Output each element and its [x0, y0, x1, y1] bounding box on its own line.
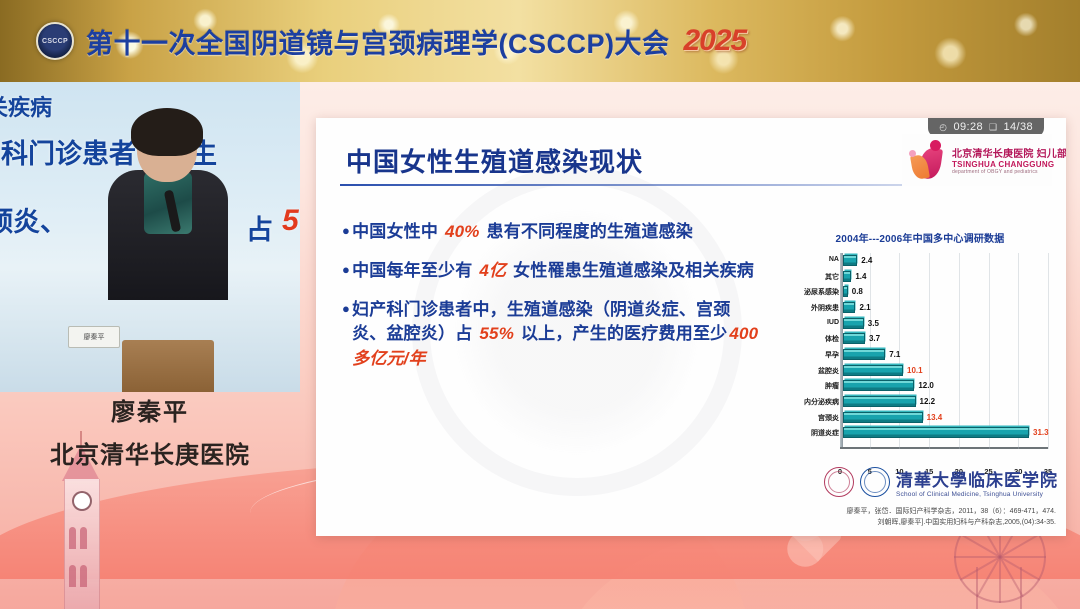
projected-slide-number: 5	[282, 204, 299, 238]
bullet-item: ●中国每年至少有 4亿 女性罹患生殖道感染及相关疾病	[342, 259, 762, 283]
logo-dot	[909, 150, 916, 157]
chart-gridline	[1048, 253, 1049, 449]
chart-bar: 阴道炎症	[843, 427, 1029, 438]
university-name-cn: 清華大學临床医学院	[896, 466, 1058, 491]
chart-value-label: 12.2	[920, 397, 936, 406]
chart-bar-row: 其它1.4	[843, 271, 866, 282]
speaker-hair	[131, 108, 203, 156]
reference-citations: 廖秦平，张岱．国际妇产科学杂志，2011，38（6）：469-471，474. …	[846, 507, 1056, 528]
chart-bar-row: 外阴疾患2.1	[843, 302, 871, 313]
podium-nameplate: 廖秦平	[68, 326, 120, 348]
bullet-plain: 以上，产生的医疗费用至少	[516, 324, 727, 343]
bullet-plain: 女性罹患生殖道感染及相关疾病	[508, 261, 754, 280]
chart-bar: 盆腔炎	[843, 365, 903, 376]
page-counter: 14/38	[1003, 121, 1033, 133]
chart-bar-row: 体检3.7	[843, 333, 880, 344]
chart-gridline	[959, 253, 960, 449]
chart-bar-row: 早孕7.1	[843, 349, 900, 360]
chart-gridline	[989, 253, 990, 449]
video-frame: 关疾病 产科门诊患者中，生 颈炎、 占 5 廖秦平	[0, 82, 300, 392]
chart-value-label: 13.4	[927, 413, 943, 422]
reference-line: 刘朝晖,廖秦平].中国实用妇科与产科杂志,2005,(04):34-35.	[846, 518, 1056, 529]
chart-bar: 泌尿系感染	[843, 286, 848, 297]
projected-slide-line: 关疾病	[0, 90, 52, 122]
chart-category-label: 外阴疾患	[811, 303, 839, 313]
chart-bar-row: 阴道炎症31.3	[843, 427, 1049, 438]
projected-slide-line: 占	[246, 208, 273, 247]
chart-category-label: IUD	[827, 319, 839, 326]
chart-bar: 内分泌疾病	[843, 396, 916, 407]
peking-university-seal-icon	[824, 467, 854, 497]
chart-bar-row: IUD3.5	[843, 318, 879, 329]
chart-category-label: 内分泌疾病	[804, 397, 839, 407]
chart-bar-row: 盆腔炎10.1	[843, 365, 923, 376]
chart-category-label: 体检	[825, 334, 839, 344]
chart-bar: 肿瘤	[843, 380, 914, 391]
slide-title: 中国女性生殖道感染现状	[346, 142, 643, 179]
chart-category-label: 阴道炎症	[811, 428, 839, 438]
bullet-plain: 中国每年至少有	[352, 261, 477, 280]
hospital-mark-icon	[907, 139, 947, 181]
tower-window	[69, 527, 76, 549]
csccp-logo-text: CSCCP	[42, 38, 68, 45]
chart-title: 2004年---2006年中国多中心调研数据	[784, 230, 1056, 245]
chart-bar: 宫颈炎	[843, 412, 923, 423]
bullet-text: 妇产科门诊患者中，生殖道感染（阴道炎症、宫颈炎、盆腔炎）占 55% 以上，产生的…	[352, 298, 762, 370]
chart-category-label: 盆腔炎	[818, 366, 839, 376]
bullet-item: ●妇产科门诊患者中，生殖道感染（阴道炎症、宫颈炎、盆腔炎）占 55% 以上，产生…	[342, 298, 762, 370]
hospital-department-en: department of OBGY and pediatrics	[952, 169, 1066, 175]
chart-bar-row: 内分泌疾病12.2	[843, 396, 935, 407]
chart-bar: 体检	[843, 333, 865, 344]
presentation-viewer: CSCCP 第十一次全国阴道镜与宫颈病理学(CSCCP)大会 2025	[0, 0, 1080, 609]
ferris-spoke	[960, 533, 1041, 581]
survey-bar-chart: 2004年---2006年中国多中心调研数据 NA2.4其它1.4泌尿系感染0.…	[784, 230, 1056, 490]
chart-value-label: 3.7	[869, 334, 880, 343]
slide-canvas[interactable]: ◴ 09:28 ❑ 14/38 中国女性生殖道感染现状 北京清华长庚医院 妇儿部…	[316, 118, 1066, 536]
podium	[122, 340, 214, 392]
bullet-marker: ●	[342, 220, 350, 244]
chart-category-label: 其它	[825, 272, 839, 282]
pages-icon: ❑	[989, 122, 997, 133]
clock-icon: ◴	[939, 122, 947, 133]
chart-category-label: 宫颈炎	[818, 413, 839, 423]
chart-plot-area: NA2.4其它1.4泌尿系感染0.8外阴疾患2.1IUD3.5体检3.7早孕7.…	[784, 253, 1056, 466]
bullet-item: ●中国女性中 40% 患有不同程度的生殖道感染	[342, 220, 762, 244]
chart-value-label: 2.4	[861, 256, 872, 265]
chart-value-label: 3.5	[868, 319, 879, 328]
chart-x-axis	[840, 447, 1048, 449]
bullet-marker: ●	[342, 259, 350, 283]
chart-bar-row: NA2.4	[843, 255, 872, 266]
csccp-logo-icon: CSCCP	[36, 22, 74, 60]
event-year: 2025	[684, 24, 747, 58]
chart-bar: 其它	[843, 271, 851, 282]
chart-category-label: NA	[829, 256, 839, 263]
chart-value-label: 1.4	[855, 272, 866, 281]
bullet-text: 中国每年至少有 4亿 女性罹患生殖道感染及相关疾病	[352, 259, 754, 283]
hospital-name-cn: 北京清华长庚医院 妇儿部	[952, 145, 1066, 160]
reference-line: 廖秦平，张岱．国际妇产科学杂志，2011，38（6）：469-471，474.	[846, 507, 1056, 518]
chart-bar: IUD	[843, 318, 864, 329]
tower-window	[69, 565, 76, 587]
ferris-spoke	[954, 556, 1046, 558]
bullet-highlight: 40%	[443, 222, 482, 241]
chart-bar-row: 宫颈炎13.4	[843, 412, 942, 423]
chart-gridline	[1018, 253, 1019, 449]
ferris-spoke	[960, 533, 1041, 581]
bullet-plain: 中国女性中	[352, 222, 443, 241]
chart-category-label: 肿瘤	[825, 381, 839, 391]
bullet-text: 中国女性中 40% 患有不同程度的生殖道感染	[352, 220, 693, 244]
university-logos: 清華大學临床医学院 School of Clinical Medicine, T…	[824, 466, 1058, 498]
chart-value-label: 2.1	[859, 303, 870, 312]
hospital-logo: 北京清华长庚医院 妇儿部 TSINGHUA CHANGGUNG departme…	[902, 134, 1052, 186]
chart-category-label: 泌尿系感染	[804, 287, 839, 297]
chart-bars-container: NA2.4其它1.4泌尿系感染0.8外阴疾患2.1IUD3.5体检3.7早孕7.…	[840, 253, 1048, 449]
bullet-highlight: 55%	[477, 324, 516, 343]
tower-window	[80, 565, 87, 587]
chart-category-label: 早孕	[825, 350, 839, 360]
chart-bar-row: 泌尿系感染0.8	[843, 286, 863, 297]
tower-body	[64, 479, 100, 609]
logo-dot	[930, 140, 941, 151]
projected-slide-line: 颈炎、	[0, 200, 67, 239]
clock-face-icon	[72, 491, 92, 511]
ferris-wheel-legs	[976, 567, 1022, 609]
chart-bar: 外阴疾患	[843, 302, 855, 313]
hospital-name-en: TSINGHUA CHANGGUNG	[952, 160, 1066, 169]
speaker-organization: 北京清华长庚医院	[0, 435, 300, 470]
chart-value-label: 31.3	[1033, 428, 1049, 437]
chart-value-label: 10.1	[907, 366, 923, 375]
chart-bar-row: 肿瘤12.0	[843, 380, 934, 391]
event-banner: CSCCP 第十一次全国阴道镜与宫颈病理学(CSCCP)大会 2025	[0, 0, 1080, 82]
tsinghua-seal-icon	[860, 467, 890, 497]
chart-bar: NA	[843, 255, 857, 266]
chart-value-label: 7.1	[889, 350, 900, 359]
chart-value-label: 0.8	[852, 287, 863, 296]
speaker-video-feed[interactable]: 关疾病 产科门诊患者中，生 颈炎、 占 5 廖秦平	[0, 82, 300, 392]
university-name-en: School of Clinical Medicine, Tsinghua Un…	[896, 491, 1058, 498]
speaker-name: 廖秦平	[0, 392, 300, 427]
slide-bullet-list: ●中国女性中 40% 患有不同程度的生殖道感染●中国每年至少有 4亿 女性罹患生…	[342, 220, 762, 386]
speaker-caption: 廖秦平 北京清华长庚医院	[0, 392, 300, 470]
event-title: 第十一次全国阴道镜与宫颈病理学(CSCCP)大会	[86, 22, 670, 61]
chart-value-label: 12.0	[918, 381, 934, 390]
bullet-marker: ●	[342, 298, 350, 370]
tower-window	[80, 527, 87, 549]
chart-bar: 早孕	[843, 349, 885, 360]
bullet-highlight: 4亿	[477, 261, 508, 280]
bullet-plain: 患有不同程度的生殖道感染	[482, 222, 693, 241]
elapsed-time: 09:28	[953, 121, 983, 133]
